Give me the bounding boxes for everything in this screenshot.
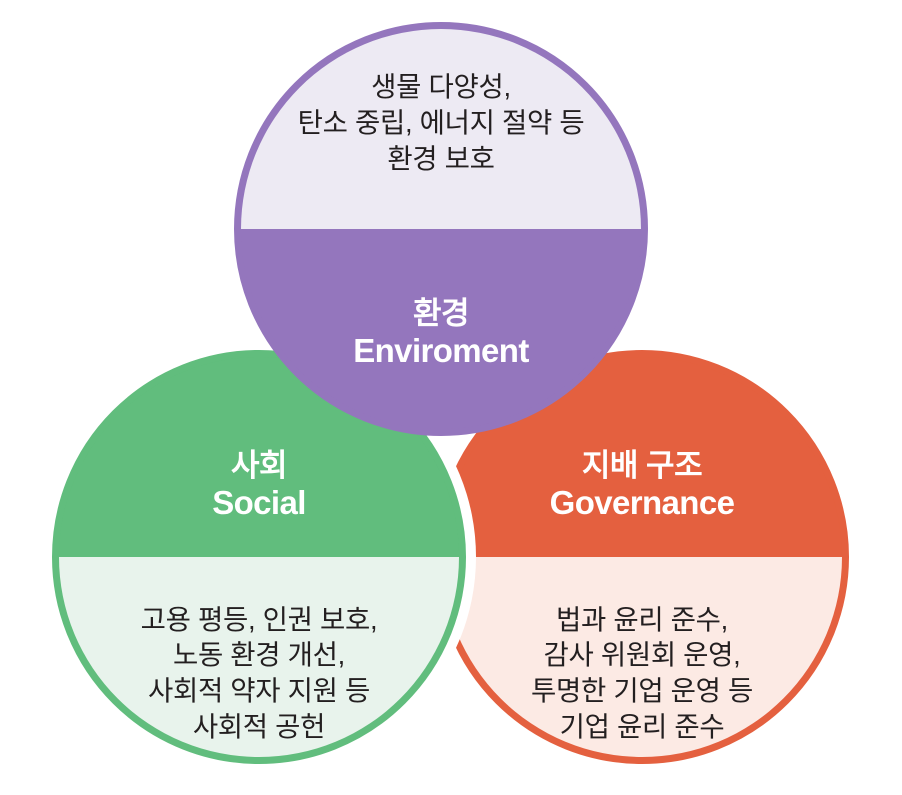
governance-details-text: 법과 윤리 준수, 감사 위원회 운영, 투명한 기업 운영 등 기업 윤리 준… xyxy=(525,602,759,745)
governance-title-korean: 지배 구조 xyxy=(550,448,735,484)
social-details-text: 고용 평등, 인권 보호, 노동 환경 개선, 사회적 약자 지원 등 사회적 … xyxy=(135,602,384,745)
social-title-english: Social xyxy=(212,484,306,523)
social-details-half: 고용 평등, 인권 보호, 노동 환경 개선, 사회적 약자 지원 등 사회적 … xyxy=(59,557,459,757)
governance-title-block: 지배 구조 Governance xyxy=(550,448,735,523)
governance-details-half: 법과 윤리 준수, 감사 위원회 운영, 투명한 기업 운영 등 기업 윤리 준… xyxy=(442,557,842,757)
environment-details-half: 생물 다양성, 탄소 중립, 에너지 절약 등 환경 보호 xyxy=(241,29,641,229)
environment-circle[interactable]: 생물 다양성, 탄소 중립, 에너지 절약 등 환경 보호 환경 Envirom… xyxy=(234,22,648,436)
environment-title-english: Enviroment xyxy=(353,332,529,371)
social-title-block: 사회 Social xyxy=(212,448,306,523)
social-title-korean: 사회 xyxy=(212,448,306,484)
esg-diagram: 생물 다양성, 탄소 중립, 에너지 절약 등 환경 보호 환경 Envirom… xyxy=(0,0,902,795)
environment-details-text: 생물 다양성, 탄소 중립, 에너지 절약 등 환경 보호 xyxy=(292,69,591,176)
governance-title-english: Governance xyxy=(550,484,735,523)
environment-title-half: 환경 Enviroment xyxy=(241,229,641,429)
environment-title-block: 환경 Enviroment xyxy=(353,296,529,371)
environment-title-korean: 환경 xyxy=(353,296,529,332)
